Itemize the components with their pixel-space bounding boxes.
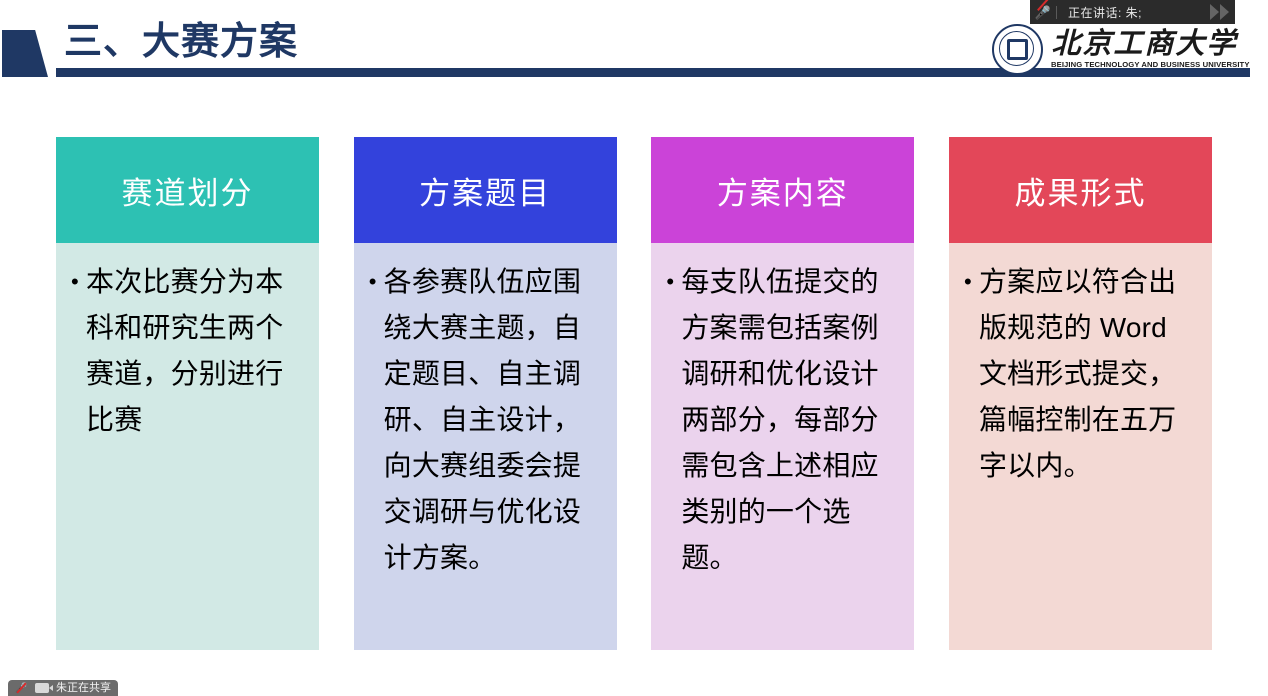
card-saidao-huafen: 赛道划分 • 本次比赛分为本科和研究生两个赛道，分别进行比赛 (56, 137, 319, 650)
bullet-icon: • (362, 259, 384, 305)
list-item: • 本次比赛分为本科和研究生两个赛道，分别进行比赛 (64, 259, 309, 443)
card-body: • 方案应以符合出版规范的 Word 文档形式提交，篇幅控制在五万字以内。 (949, 243, 1212, 650)
now-speaking-overlay[interactable]: 🎤 正在讲话: 朱; (1030, 0, 1235, 24)
card-body: • 每支队伍提交的方案需包括案例调研和优化设计两部分，每部分需包含上述相应类别的… (651, 243, 914, 650)
card-row: 赛道划分 • 本次比赛分为本科和研究生两个赛道，分别进行比赛 方案题目 • 各参… (56, 137, 1212, 650)
card-header: 方案题目 (354, 137, 617, 243)
university-name-cn: 北京工商大学 (1051, 29, 1246, 60)
bullet-icon: • (659, 259, 681, 305)
card-text: 方案应以符合出版规范的 Word 文档形式提交，篇幅控制在五万字以内。 (979, 259, 1202, 489)
card-text: 每支队伍提交的方案需包括案例调研和优化设计两部分，每部分需包含上述相应类别的一个… (681, 259, 904, 581)
list-item: • 方案应以符合出版规范的 Word 文档形式提交，篇幅控制在五万字以内。 (957, 259, 1202, 489)
card-fangan-neirong: 方案内容 • 每支队伍提交的方案需包括案例调研和优化设计两部分，每部分需包含上述… (651, 137, 914, 650)
card-header: 方案内容 (651, 137, 914, 243)
camera-icon[interactable] (35, 683, 49, 693)
microphone-muted-icon[interactable]: 🎤 (1030, 0, 1056, 24)
bullet-icon: • (64, 259, 86, 305)
sharing-status-label: 朱正在共享 (56, 680, 111, 696)
card-fangan-timu: 方案题目 • 各参赛队伍应围绕大赛主题，自定题目、自主调研、自主设计，向大赛组委… (354, 137, 617, 650)
bullet-icon: • (957, 259, 979, 305)
chevron-2 (1220, 4, 1229, 20)
double-chevron-icon[interactable] (1210, 4, 1229, 20)
list-item: • 每支队伍提交的方案需包括案例调研和优化设计两部分，每部分需包含上述相应类别的… (659, 259, 904, 581)
card-body: • 各参赛队伍应围绕大赛主题，自定题目、自主调研、自主设计，向大赛组委会提交调研… (354, 243, 617, 650)
university-name-block: 北京工商大学 BEIJING TECHNOLOGY AND BUSINESS U… (1051, 29, 1246, 70)
university-name-en: BEIJING TECHNOLOGY AND BUSINESS UNIVERSI… (1051, 60, 1250, 70)
university-logo: 北京工商大学 BEIJING TECHNOLOGY AND BUSINESS U… (992, 24, 1246, 75)
chevron-1 (1210, 4, 1219, 20)
microphone-muted-icon[interactable]: 🎤 (15, 682, 28, 695)
card-text: 本次比赛分为本科和研究生两个赛道，分别进行比赛 (86, 259, 309, 443)
list-item: • 各参赛队伍应围绕大赛主题，自定题目、自主调研、自主设计，向大赛组委会提交调研… (362, 259, 607, 581)
card-body: • 本次比赛分为本科和研究生两个赛道，分别进行比赛 (56, 243, 319, 650)
now-speaking-label: 正在讲话: 朱; (1057, 4, 1142, 21)
title-accent-shape (2, 30, 48, 77)
card-header: 赛道划分 (56, 137, 319, 243)
university-seal-icon (992, 24, 1043, 75)
card-header: 成果形式 (949, 137, 1212, 243)
card-text: 各参赛队伍应围绕大赛主题，自定题目、自主调研、自主设计，向大赛组委会提交调研与优… (384, 259, 607, 581)
page-title: 三、大赛方案 (64, 18, 298, 66)
slide-canvas: 三、大赛方案 北京工商大学 BEIJING TECHNOLOGY AND BUS… (0, 0, 1268, 696)
meeting-toolbar[interactable]: 🎤 朱正在共享 (8, 680, 118, 696)
card-chengguo-xingshi: 成果形式 • 方案应以符合出版规范的 Word 文档形式提交，篇幅控制在五万字以… (949, 137, 1212, 650)
